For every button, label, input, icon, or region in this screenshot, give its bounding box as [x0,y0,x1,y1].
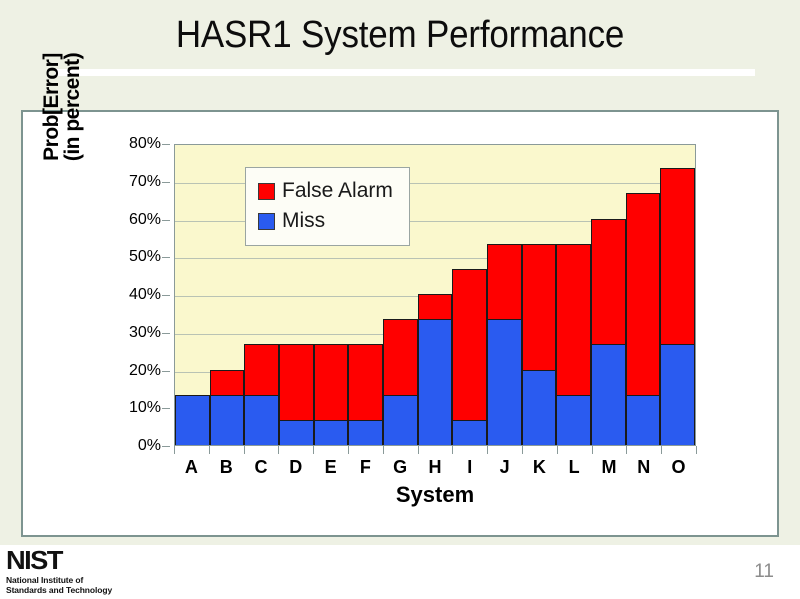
bar-segment-miss[interactable] [660,344,695,445]
nist-tagline-line1: National Institute of [6,575,136,585]
x-axis-tick-mark [278,446,279,454]
y-axis-tick-label: 50% [103,248,161,266]
y-axis-tick-mark [162,446,170,447]
bar-column[interactable] [556,145,591,445]
bar-segment-false-alarm[interactable] [522,244,557,370]
y-axis-tick-mark [162,295,170,296]
bar-stack[interactable] [556,244,591,445]
bar-stack[interactable] [175,395,210,445]
bar-column[interactable] [522,145,557,445]
x-axis-tick-mark [487,446,488,454]
legend-item[interactable]: Miss [258,206,393,236]
x-axis-tick-mark [418,446,419,454]
y-axis-tick-mark [162,220,170,221]
x-axis-tick-mark [174,446,175,454]
y-axis-tick-mark [162,182,170,183]
bar-column[interactable] [418,145,453,445]
y-axis-tick-mark [162,144,170,145]
bar-stack[interactable] [522,244,557,445]
y-axis-tick-mark [162,333,170,334]
bar-column[interactable] [210,145,245,445]
bar-stack[interactable] [487,244,522,445]
bar-segment-false-alarm[interactable] [452,269,487,420]
y-axis-tick-label: 20% [103,362,161,380]
bar-segment-miss[interactable] [418,319,453,445]
y-axis-title-line2: (in percent) [62,0,83,217]
x-axis-tick-label: F [348,457,383,478]
bar-segment-false-alarm[interactable] [591,219,626,345]
nist-wordmark: NIST [6,547,143,573]
y-axis-tick-marks [162,144,170,446]
y-axis-tick-mark [162,371,170,372]
x-axis-tick-marks [174,446,696,454]
title-divider [55,69,755,76]
chart-container: Prob[Error] (in percent) 0%10%20%30%40%5… [21,110,779,537]
chart-legend: False AlarmMiss [245,167,410,246]
y-axis-tick-mark [162,408,170,409]
bar-stack[interactable] [279,344,314,445]
y-axis-tick-label: 80% [103,135,161,153]
bar-segment-miss[interactable] [591,344,626,445]
bar-segment-miss[interactable] [452,420,487,445]
x-axis-tick-mark [661,446,662,454]
x-axis-tick-label: M [592,457,627,478]
x-axis-tick-label: O [661,457,696,478]
x-axis-tick-label: C [244,457,279,478]
bar-segment-false-alarm[interactable] [314,344,349,420]
bar-segment-false-alarm[interactable] [244,344,279,395]
x-axis-tick-mark [696,446,697,454]
x-axis-tick-mark [557,446,558,454]
bar-column[interactable] [591,145,626,445]
bar-segment-miss[interactable] [522,370,557,446]
slide-footer: NIST National Institute of Standards and… [0,545,800,599]
x-axis-tick-label: G [383,457,418,478]
bar-stack[interactable] [210,370,245,445]
x-axis-tick-label: H [418,457,453,478]
y-axis-tick-label: 10% [103,399,161,417]
bar-segment-miss[interactable] [383,395,418,445]
x-axis-tick-label: E [313,457,348,478]
bar-stack[interactable] [626,193,661,445]
bar-stack[interactable] [591,219,626,445]
bar-segment-miss[interactable] [244,395,279,445]
bar-segment-miss[interactable] [556,395,591,445]
bar-column[interactable] [626,145,661,445]
bar-segment-miss[interactable] [487,319,522,445]
bar-segment-false-alarm[interactable] [418,294,453,319]
bar-segment-miss[interactable] [626,395,661,445]
y-axis-title-line1: Prob[Error] [41,0,62,217]
legend-swatch-icon [258,183,275,200]
bar-segment-false-alarm[interactable] [556,244,591,395]
legend-item[interactable]: False Alarm [258,176,393,206]
legend-item-label: Miss [282,209,325,233]
bar-segment-false-alarm[interactable] [383,319,418,395]
legend-item-label: False Alarm [282,179,393,203]
x-axis-tick-label: I [452,457,487,478]
bar-column[interactable] [487,145,522,445]
y-axis-title: Prob[Error] (in percent) [41,0,101,217]
x-axis-tick-mark [348,446,349,454]
bar-segment-miss[interactable] [314,420,349,445]
bar-stack[interactable] [660,168,695,445]
x-axis-tick-label: K [522,457,557,478]
bar-stack[interactable] [383,319,418,445]
page-title: HASR1 System Performance [32,14,768,57]
x-axis-tick-labels: ABCDEFGHIJKLMNO [174,457,696,478]
y-axis-tick-labels: 0%10%20%30%40%50%60%70%80% [103,144,161,446]
bar-column[interactable] [175,145,210,445]
x-axis-tick-mark [313,446,314,454]
bar-segment-miss[interactable] [175,395,210,445]
bar-stack[interactable] [418,294,453,445]
bar-segment-false-alarm[interactable] [660,168,695,344]
x-axis-title: System [174,482,696,508]
y-axis-tick-label: 0% [103,437,161,455]
plot-area: False AlarmMiss [174,144,696,446]
bar-column[interactable] [660,145,695,445]
bar-segment-false-alarm[interactable] [487,244,522,320]
bar-stack[interactable] [244,344,279,445]
bar-segment-miss[interactable] [348,420,383,445]
x-axis-tick-mark [209,446,210,454]
bar-segment-miss[interactable] [279,420,314,445]
bar-segment-false-alarm[interactable] [626,193,661,395]
x-axis-tick-label: J [487,457,522,478]
bar-segment-false-alarm[interactable] [279,344,314,420]
y-axis-tick-mark [162,257,170,258]
y-axis-tick-label: 40% [103,286,161,304]
y-axis-tick-label: 30% [103,324,161,342]
slide: HASR1 System Performance Prob[Error] (in… [0,0,800,545]
bar-segment-false-alarm[interactable] [348,344,383,420]
x-axis-tick-mark [626,446,627,454]
x-axis-tick-label: N [626,457,661,478]
x-axis-tick-mark [452,446,453,454]
x-axis-tick-label: B [209,457,244,478]
x-axis-tick-mark [592,446,593,454]
bar-segment-false-alarm[interactable] [210,370,245,395]
bar-column[interactable] [452,145,487,445]
bar-segment-miss[interactable] [210,395,245,445]
bar-stack[interactable] [348,344,383,445]
x-axis-tick-mark [522,446,523,454]
bar-stack[interactable] [314,344,349,445]
nist-tagline-line2: Standards and Technology [6,585,136,595]
nist-logo: NIST National Institute of Standards and… [6,547,136,596]
x-axis-tick-label: A [174,457,209,478]
x-axis-tick-mark [383,446,384,454]
x-axis-tick-label: L [557,457,592,478]
y-axis-tick-label: 70% [103,173,161,191]
y-axis-tick-label: 60% [103,211,161,229]
legend-swatch-icon [258,213,275,230]
x-axis-tick-mark [244,446,245,454]
page-number: 11 [754,561,774,583]
nist-tagline: National Institute of Standards and Tech… [6,575,136,596]
bar-stack[interactable] [452,269,487,445]
x-axis-tick-label: D [278,457,313,478]
